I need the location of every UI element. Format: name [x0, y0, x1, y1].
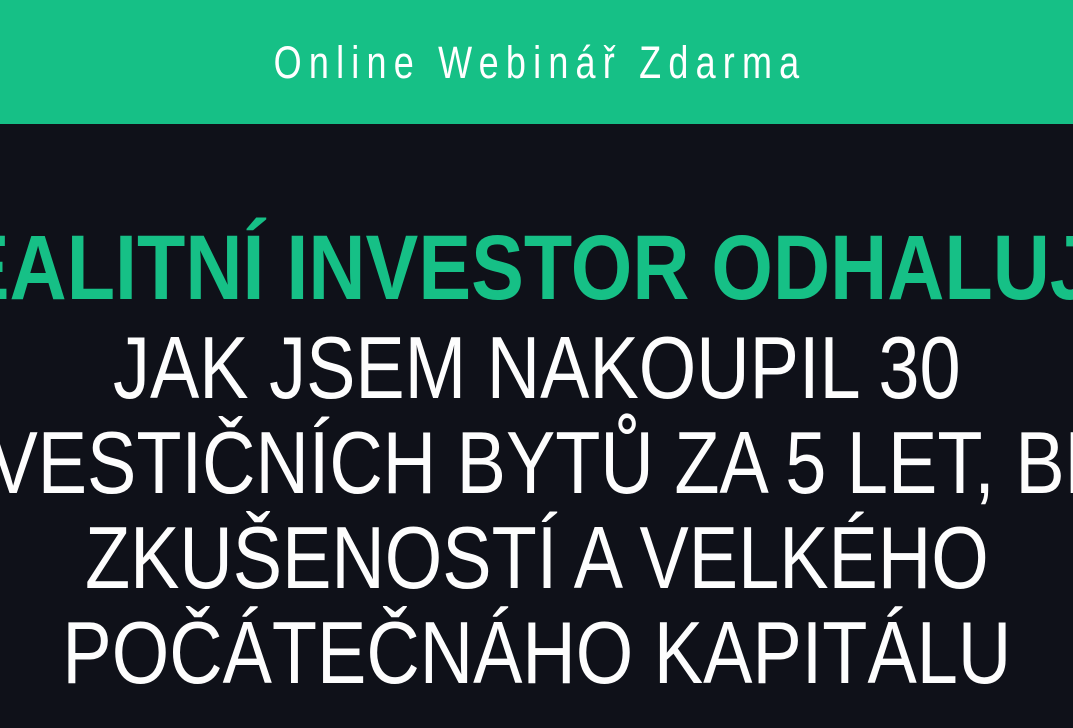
- banner-title: Online Webinář Zdarma: [267, 40, 807, 85]
- hero-headline-line-1: JAK JSEM NAKOUPIL 30: [0, 320, 1073, 415]
- hero-headline: JAK JSEM NAKOUPIL 30 INVESTIČNÍCH BYTŮ Z…: [0, 320, 1073, 700]
- hero-headline-line-3: ZKUŠENOSTÍ A VELKÉHO: [0, 510, 1073, 605]
- hero-accent-headline: REALITNÍ INVESTOR ODHALUJE:: [0, 220, 1073, 316]
- hero-section: REALITNÍ INVESTOR ODHALUJE: JAK JSEM NAK…: [0, 124, 1073, 728]
- top-banner: Online Webinář Zdarma: [0, 0, 1073, 124]
- webinar-landing-hero: Online Webinář Zdarma REALITNÍ INVESTOR …: [0, 0, 1073, 728]
- hero-headline-line-4: POČÁTEČNÁHO KAPITÁLU: [0, 605, 1073, 700]
- hero-headline-line-2: INVESTIČNÍCH BYTŮ ZA 5 LET, BEZ: [0, 415, 1073, 510]
